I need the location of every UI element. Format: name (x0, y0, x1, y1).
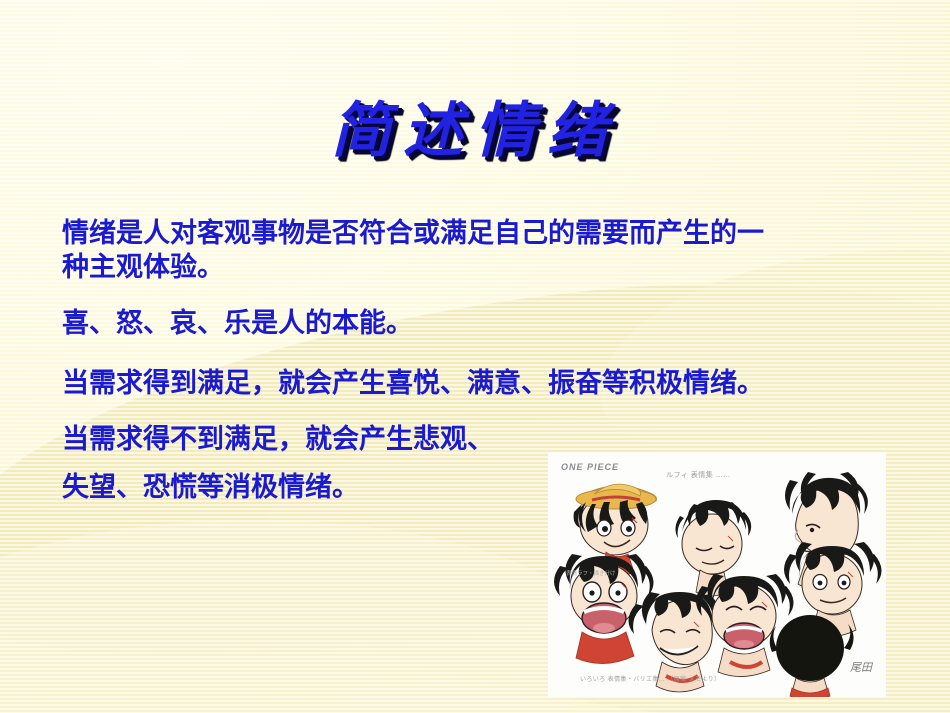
picture-caption-note: いろいろ 表情集・バリエ集… （原案 メモより） (580, 676, 720, 685)
body-paragraph-4: 当需求得不到满足，就会产生悲观、 (62, 422, 780, 456)
slide-canvas: 简述情绪 情绪是人对客观事物是否符合或满足自己的需要而产生的一种主观体验。 喜、… (0, 0, 950, 713)
picture-caption-subtitle: ルフィ 表情集 …… (666, 470, 731, 480)
body-paragraph-1: 情绪是人对客观事物是否符合或满足自己的需要而产生的一种主观体验。 (62, 216, 780, 284)
body-paragraph-2: 喜、怒、哀、乐是人的本能。 (62, 306, 780, 340)
picture-caption-mini: 表情ラフ・描き分け (566, 570, 616, 578)
picture-signature: 尾田 (850, 659, 872, 675)
expressions-image: ONE PIECE ルフィ 表情集 …… いろいろ 表情集・バリエ集… （原案 … (548, 452, 886, 697)
slide-title: 简述情绪 (0, 96, 950, 165)
picture-caption-one-piece: ONE PIECE (561, 462, 619, 472)
body-paragraph-3: 当需求得到满足，就会产生喜悦、满意、振奋等积极情绪。 (62, 366, 780, 400)
